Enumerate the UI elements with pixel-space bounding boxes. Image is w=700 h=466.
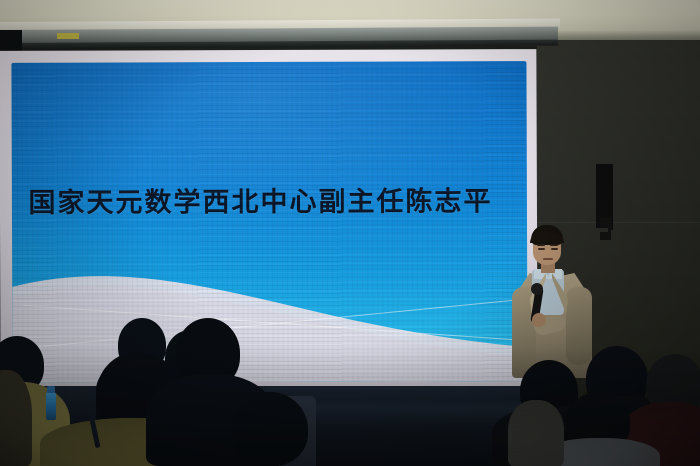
roller-warning-label: [57, 33, 79, 39]
presenter-hand: [532, 313, 546, 327]
presenter: [500, 225, 610, 385]
microphone-head: [531, 283, 543, 295]
screen-roller-end-cap: [0, 30, 22, 52]
presenter-eye-left: [538, 248, 545, 250]
presenter-hairline: [530, 232, 564, 243]
presentation-slide: 国家天元数学西北中心副主任陈志平: [11, 61, 527, 383]
presenter-mouth: [543, 258, 553, 260]
photo-scene: 国家天元数学西北中心副主任陈志平: [0, 0, 700, 466]
seat-back: [150, 404, 240, 466]
presenter-eye-right: [551, 248, 558, 250]
presenter-brow-right: [550, 244, 558, 246]
water-bottle: [46, 392, 56, 420]
slide-scanlines: [11, 61, 527, 383]
presenter-brow-left: [537, 244, 545, 246]
seat-back: [238, 396, 316, 466]
presenter-right-arm: [566, 287, 592, 365]
wall-seam: [537, 222, 700, 223]
water-bottle-cap: [47, 386, 55, 393]
floor-reflection: [300, 404, 530, 426]
